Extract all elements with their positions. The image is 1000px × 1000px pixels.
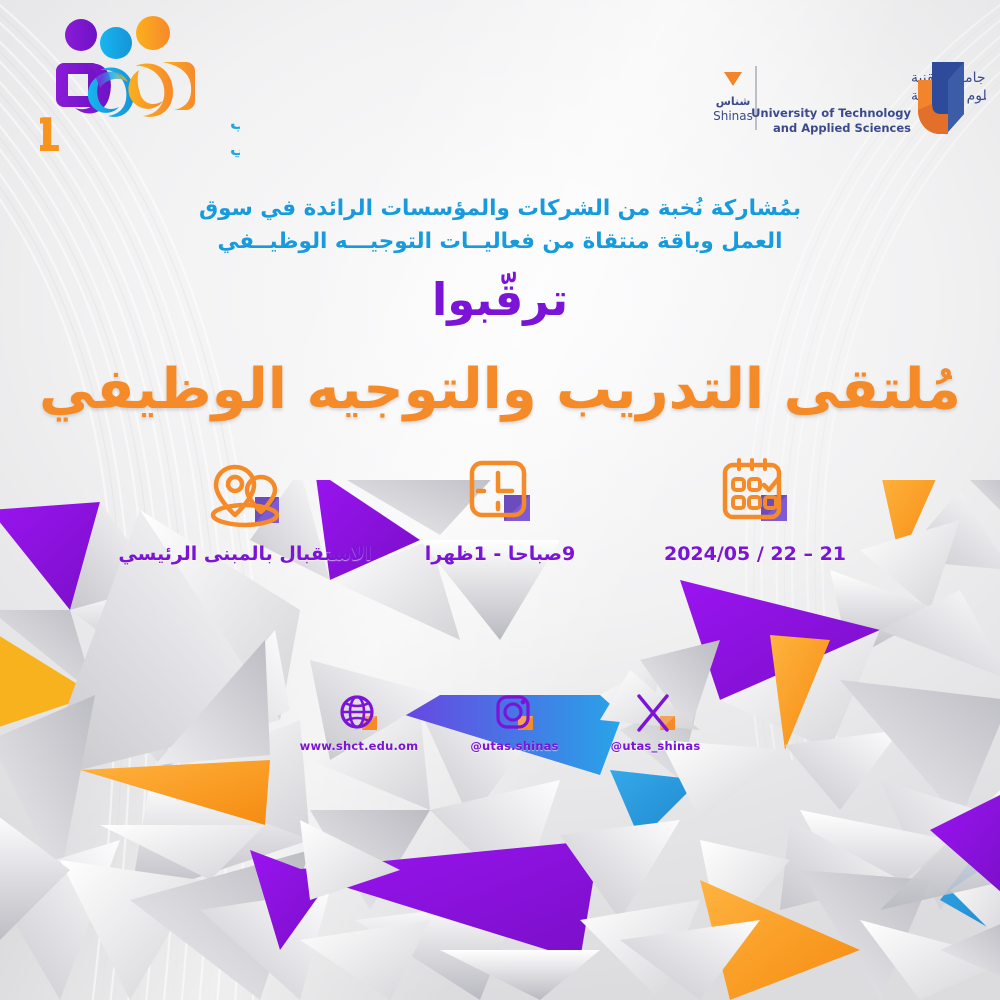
- social-handle-x: @utas_shinas: [611, 739, 701, 753]
- shinas-triangle-icon: [724, 72, 742, 86]
- forum-logo: 1 مُلتقــى التدريــب والتوجيه الوظيفي: [40, 8, 240, 168]
- info-item-date: 2024/05 / 22 – 21: [630, 455, 880, 565]
- info-label-location: الاستقبال بالمبنى الرئيسي: [118, 543, 371, 565]
- page-title: مُلتقى التدريب والتوجيه الوظيفي: [0, 355, 1000, 425]
- clock-icon: [456, 455, 544, 533]
- subtitle: بمُشاركة نُخبة من الشركات والمؤسسات الرا…: [0, 192, 1000, 259]
- social-item-instagram[interactable]: @utas.shinas: [470, 692, 558, 753]
- calendar-check-icon: [711, 455, 799, 533]
- logo-head-purple: [65, 19, 97, 51]
- uni-name-en-2: and Applied Sciences: [773, 121, 911, 135]
- x-twitter-icon[interactable]: [633, 692, 679, 734]
- poster-canvas: 1 مُلتقــى التدريــب والتوجيه الوظيفي شن…: [0, 0, 1000, 1000]
- location-pin-icon: [201, 455, 289, 533]
- utas-logo: شناس Shinas جامعة التقنية والعلوم التطبي…: [696, 52, 986, 152]
- tease-headline: ترقّبوا: [0, 272, 1000, 328]
- uni-name-en-1: University of Technology: [751, 106, 911, 120]
- campus-name-ar: شناس: [716, 95, 751, 108]
- subtitle-line-1: بمُشاركة نُخبة من الشركات والمؤسسات الرا…: [0, 192, 1000, 225]
- social-handle-website: www.shct.edu.om: [300, 739, 419, 753]
- logo-head-orange: [136, 16, 170, 50]
- social-handle-instagram: @utas.shinas: [470, 739, 558, 753]
- info-item-time: 9صباحا - 1ظهرا: [375, 455, 625, 565]
- globe-icon[interactable]: [336, 692, 382, 734]
- info-label-date: 2024/05 / 22 – 21: [664, 543, 846, 565]
- subtitle-line-2: العمل وباقة منتقاة من فعاليــات التوجيــ…: [0, 225, 1000, 258]
- social-item-website[interactable]: www.shct.edu.om: [300, 692, 419, 753]
- logo-head-blue: [100, 27, 132, 59]
- campus-name-en: Shinas: [713, 109, 753, 123]
- event-info-row: الاستقبال بالمبنى الرئيسي 9صباحا - 1ظهرا: [120, 455, 880, 585]
- info-item-location: الاستقبال بالمبنى الرئيسي: [120, 455, 370, 565]
- logo-text-line2: والتوجيه الوظيفي: [230, 138, 240, 158]
- social-links-row: @utas_shinas @utas.shinas www.: [0, 692, 1000, 753]
- logo-text-line1: مُلتقــى التدريــب: [230, 114, 240, 134]
- logo-edition-number: 1: [40, 108, 62, 162]
- social-item-x[interactable]: @utas_shinas: [611, 692, 701, 753]
- info-label-time: 9صباحا - 1ظهرا: [425, 543, 575, 565]
- instagram-icon[interactable]: [492, 692, 538, 734]
